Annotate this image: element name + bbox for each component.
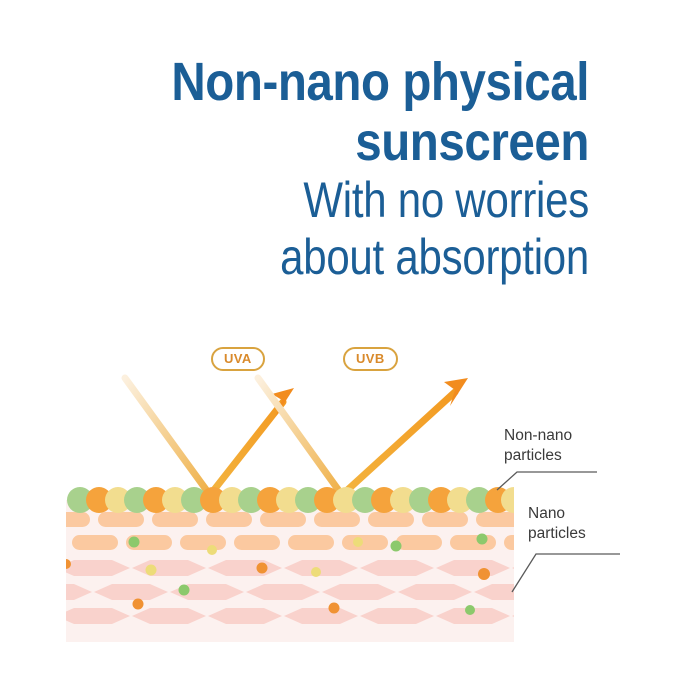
infographic-poster: Non-nano physical sunscreen With no worr… — [0, 0, 679, 679]
surface-particles-row — [67, 487, 514, 513]
callout-label-nano-particles: Nano particles — [528, 504, 586, 544]
headline-block: Non-nano physical sunscreen With no worr… — [0, 52, 679, 286]
uvb-incoming-ray — [258, 378, 342, 495]
title-line-1: Non-nano physical — [71, 52, 589, 112]
title-line-2: sunscreen — [71, 112, 589, 172]
uvb-reflected-ray — [342, 392, 455, 495]
subtitle-line-1: With no worries — [94, 172, 589, 229]
callout-label-non-nano-particles: Non-nano particles — [504, 426, 572, 466]
skin-cross-section — [66, 482, 514, 642]
subtitle-line-2: about absorption — [94, 229, 589, 286]
uva-incoming-ray — [125, 378, 210, 495]
leader-line-nano — [512, 554, 620, 592]
